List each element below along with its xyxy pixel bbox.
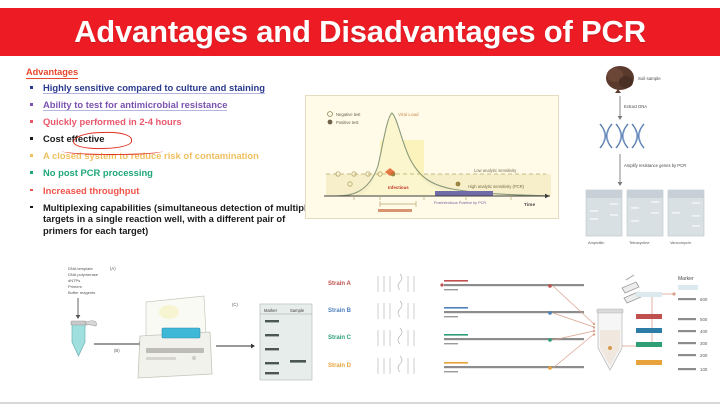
list-item: Quickly performed in 2-4 hours (26, 116, 314, 128)
bullet-dot-icon (30, 103, 33, 106)
soil-gel-label-1: Ampicillin (588, 240, 604, 245)
chart-xaxis-label: Time (524, 202, 535, 208)
chart-legend-negative: Negative test (336, 112, 361, 117)
multiplex-marker-size-5: 200 (700, 353, 708, 358)
list-item: A closed system to reduce risk of contam… (26, 150, 314, 162)
multiplex-strain-label-a: Strain A (328, 281, 351, 287)
pcr-workflow-figure: DNA template DNA polymerase dNTPs Primer… (34, 262, 316, 388)
chart-threshold-high-label: High analytic sensitivity (PCR) (468, 184, 525, 189)
multiplex-pcr-figure: Strain A Strain B Strain C (322, 268, 716, 390)
multiplex-strain-label-d: Strain D (328, 363, 352, 369)
advantages-heading: Advantages (26, 67, 78, 79)
list-item: Ability to test for antimicrobial resist… (26, 99, 314, 111)
soil-step-label-3: Amplify resistance genes by PCR (624, 163, 686, 168)
list-item-label: Cost effective (43, 133, 104, 144)
bullet-dot-icon (30, 137, 33, 140)
pcr-panel-label-b: (B) (114, 348, 120, 353)
bullet-dot-icon (30, 120, 33, 123)
list-item-label: Highly sensitive compared to culture and… (43, 82, 265, 94)
bullet-dot-icon (30, 86, 33, 89)
chart-region-postinfectious-label: Postinfectious Positive by PCR (434, 201, 486, 205)
multiplex-strain-label-c: Strain C (328, 335, 352, 341)
pcr-workflow-svg: DNA template DNA polymerase dNTPs Primer… (34, 262, 316, 388)
chart-threshold-low-label: Low analytic sensitivity (474, 168, 517, 173)
soil-gel-label-2: Tetracycline (629, 240, 650, 245)
multiplex-marker-size-1: 600 (700, 297, 708, 302)
viral-load-chart-figure: Negative test Positive test Viral Load L… (305, 95, 559, 219)
list-item-label: A closed system to reduce risk of contam… (43, 150, 259, 161)
pcr-gel-header-marker: Marker (264, 308, 278, 313)
list-item: Highly sensitive compared to culture and… (26, 82, 314, 94)
slide-title-banner: Advantages and Disadvantages of PCR (0, 8, 720, 56)
list-item: Multiplexing capabilities (simultaneous … (26, 202, 314, 237)
soil-step-label-1: Soil sample (638, 76, 661, 81)
pcr-reagent-3: dNTPs (68, 278, 80, 283)
soil-gel-label-3: Vancomycin (670, 240, 691, 245)
list-item-label: Increased throughput (43, 185, 139, 196)
viral-load-chart-svg: Negative test Positive test Viral Load L… (306, 96, 556, 216)
chart-region-infectious-label: Infectious (388, 185, 409, 190)
bullet-dot-icon (30, 189, 33, 192)
pcr-reagent-4: Primers (68, 284, 82, 289)
list-item-label: Ability to test for antimicrobial resist… (43, 99, 227, 111)
soil-workflow-figure: Soil sample Extract DNA Amplify resistan… (574, 62, 716, 258)
list-item: No post PCR processing (26, 167, 314, 179)
pcr-reagent-2: DNA polymerase (68, 272, 99, 277)
pcr-panel-label-c: (C) (232, 302, 238, 307)
list-item: Increased throughput (26, 185, 314, 197)
multiplex-marker-size-2: 500 (700, 317, 708, 322)
slide-canvas: Advantages and Disadvantages of PCR Adva… (0, 0, 720, 404)
multiplex-pcr-svg: Strain A Strain B Strain C (322, 268, 716, 390)
pcr-panel-label-a: (A) (110, 266, 116, 271)
list-item: Cost effective (26, 133, 314, 145)
page-title: Advantages and Disadvantages of PCR (74, 14, 646, 50)
soil-workflow-svg: Soil sample Extract DNA Amplify resistan… (574, 62, 716, 258)
multiplex-marker-size-6: 100 (700, 367, 708, 372)
advantages-bullet-list: Highly sensitive compared to culture and… (26, 82, 314, 236)
multiplex-strain-label-b: Strain B (328, 308, 352, 314)
multiplex-marker-size-4: 300 (700, 341, 708, 346)
chart-legend-positive: Positive test (336, 120, 359, 125)
pcr-reagent-5: Buffer reagents (68, 290, 95, 295)
multiplex-marker-size-3: 400 (700, 329, 708, 334)
advantages-content-block: Advantages Highly sensitive compared to … (26, 62, 314, 242)
soil-step-label-2: Extract DNA (624, 104, 647, 109)
bullet-dot-icon (30, 206, 33, 209)
pcr-reagent-1: DNA template (68, 266, 93, 271)
pcr-gel-header-sample: Sample (290, 308, 305, 313)
list-item-label: No post PCR processing (43, 167, 153, 178)
list-item-label: Multiplexing capabilities (simultaneous … (43, 202, 312, 236)
bullet-dot-icon (30, 171, 33, 174)
list-item-label: Quickly performed in 2-4 hours (43, 116, 182, 127)
bullet-dot-icon (30, 154, 33, 157)
chart-curve-label: Viral Load (398, 112, 419, 117)
multiplex-marker-header: Marker (678, 276, 694, 282)
